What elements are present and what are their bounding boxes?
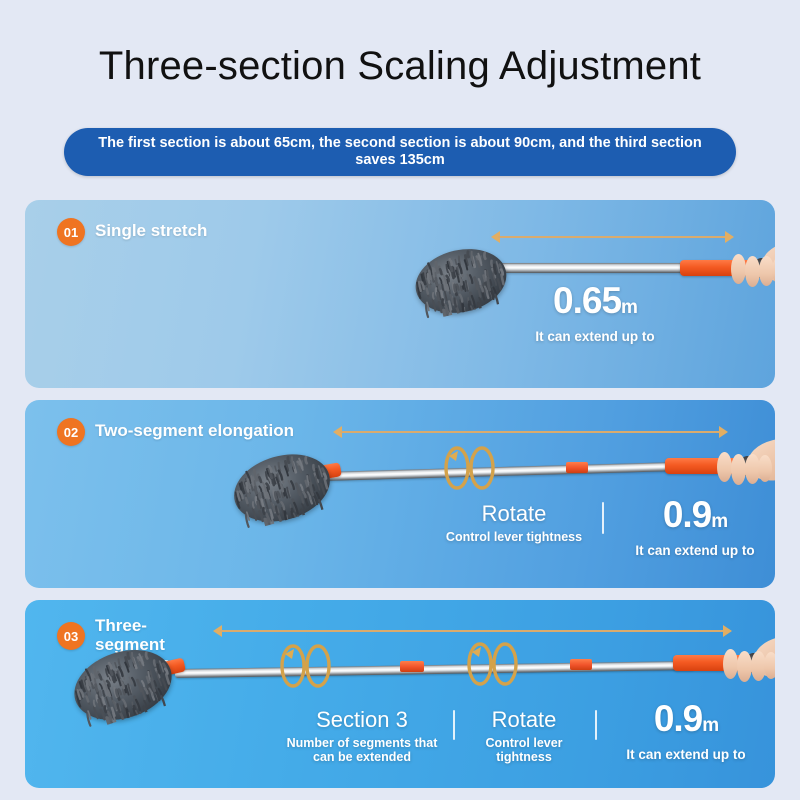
- rotate-caption-02: Control lever tightness: [423, 530, 605, 544]
- hand-grip-02: [691, 436, 775, 496]
- info-block-03-1: Rotate Control lever tightness: [459, 708, 589, 764]
- mop-head-03: [65, 638, 181, 732]
- hand-grip-03: [697, 633, 775, 693]
- spec-banner-text: The first section is about 65cm, the sec…: [64, 135, 736, 169]
- rotate-label-03: Rotate: [459, 708, 589, 732]
- pole-shaft-01: [474, 263, 696, 273]
- measure-caption-02: It can extend up to: [613, 543, 775, 559]
- measurement-arrow-01: [491, 230, 734, 244]
- panel-title-01: Single stretch: [95, 221, 207, 240]
- section-label-03: Section 3: [277, 708, 447, 732]
- panel-single-stretch: 01 Single stretch 0.65m It: [25, 200, 775, 388]
- measure-value-02: 0.9m: [613, 496, 775, 541]
- info-divider-a-03: [453, 710, 455, 740]
- badge-02: 02: [57, 418, 85, 446]
- panel-two-segment: 02 Two-segment elongation: [25, 400, 775, 588]
- rotation-spiral-icon-b-03: [460, 638, 532, 690]
- measure-value-03: 0.9m: [603, 700, 769, 745]
- info-block-02-1: 0.9m It can extend up to: [613, 496, 775, 559]
- info-block-01-0: 0.65m It can extend up to: [495, 282, 695, 345]
- info-divider-02: [602, 502, 604, 534]
- spec-banner: The first section is about 65cm, the sec…: [64, 128, 736, 176]
- mop-head-02: [226, 444, 338, 533]
- info-divider-b-03: [595, 710, 597, 740]
- info-block-02-0: Rotate Control lever tightness: [423, 502, 605, 544]
- measure-value-01: 0.65m: [495, 282, 695, 327]
- pole-collar-a-03: [400, 661, 424, 672]
- pole-shaft-03: [175, 661, 695, 678]
- badge-03: 03: [57, 622, 85, 650]
- infographic-page: Three-section Scaling Adjustment The fir…: [0, 0, 800, 800]
- info-block-03-2: 0.9m It can extend up to: [603, 700, 769, 763]
- rotate-caption-03: Control lever tightness: [459, 736, 589, 764]
- page-title: Three-section Scaling Adjustment: [0, 44, 800, 89]
- panel-title-02: Two-segment elongation: [95, 421, 294, 440]
- pole-collar-b-03: [570, 659, 592, 670]
- measure-caption-03: It can extend up to: [603, 747, 769, 763]
- pole-collar-02: [566, 462, 588, 473]
- info-block-03-0: Section 3 Number of segments that can be…: [277, 708, 447, 764]
- rotation-spiral-icon-02: [437, 442, 509, 494]
- rotate-label-02: Rotate: [423, 502, 605, 526]
- section-caption-03: Number of segments that can be extended: [277, 736, 447, 764]
- measurement-arrow-02: [333, 425, 728, 439]
- hand-grip-01: [705, 238, 775, 298]
- measure-caption-01: It can extend up to: [495, 329, 695, 345]
- measurement-arrow-03: [213, 624, 732, 638]
- rotation-spiral-icon-a-03: [273, 640, 345, 692]
- panel-three-segment: 03 Three-segment elongation: [25, 600, 775, 788]
- badge-01: 01: [57, 218, 85, 246]
